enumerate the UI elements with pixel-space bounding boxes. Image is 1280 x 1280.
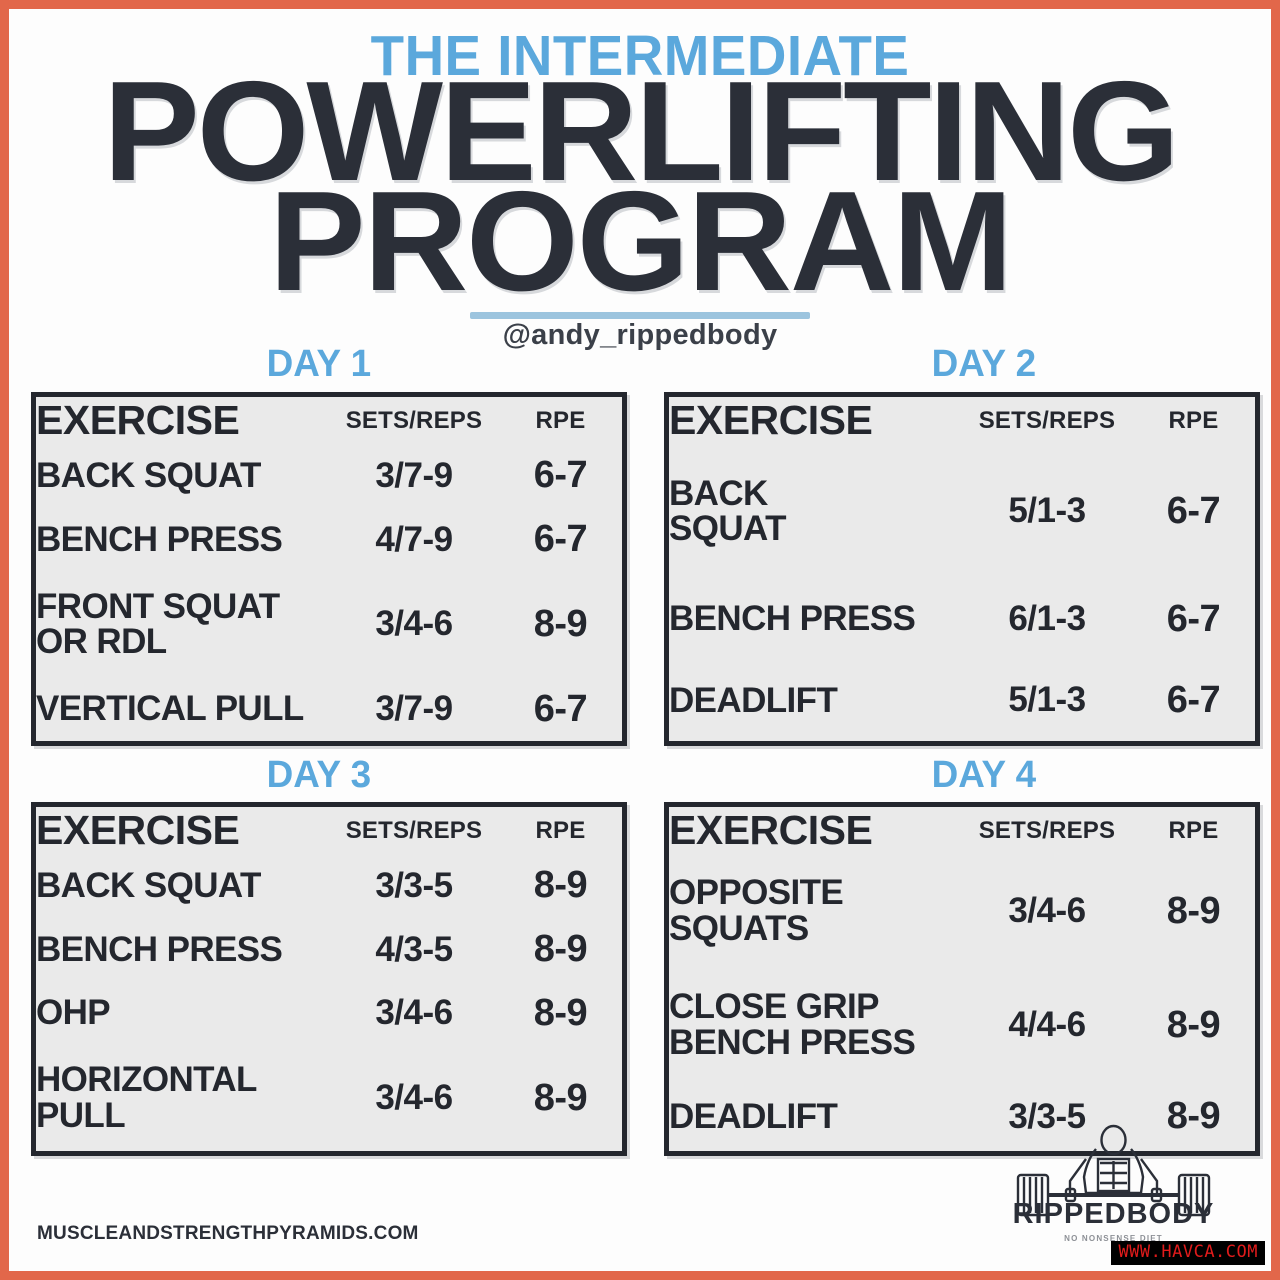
cell-sets-reps: 3/4-6 [329,981,499,1045]
day-1-table-head: EXERCISE SETS/REPS RPE [36,397,622,444]
table-row: FRONT SQUATOR RDL 3/4-6 8-9 [36,571,622,677]
title-underline-rule [470,312,810,319]
table-header-row: EXERCISE SETS/REPS RPE [669,807,1255,854]
day-2-table: EXERCISE SETS/REPS RPE BACKSQUAT 5/1-3 6… [669,397,1255,741]
cell-sets-reps: 5/1-3 [962,660,1132,741]
cell-exercise: BENCH PRESS [36,508,329,572]
cell-sets-reps: 5/1-3 [962,444,1132,579]
site-url[interactable]: MUSCLEANDSTRENGTHPYRAMIDS.COM [37,1223,419,1245]
cell-sets-reps: 3/4-6 [329,571,499,677]
day-3-table-body: BACK SQUAT 3/3-5 8-9 BENCH PRESS 4/3-5 8… [36,854,622,1151]
cell-exercise: FRONT SQUATOR RDL [36,571,329,677]
watermark-havca: WWW.HAVCA.COM [1111,1241,1265,1265]
cell-rpe: 8-9 [499,1045,622,1151]
cell-rpe: 6-7 [499,508,622,572]
header-exercise: EXERCISE [36,807,329,854]
header-sets-reps: SETS/REPS [329,397,499,444]
day-2-table-body: BACKSQUAT 5/1-3 6-7 BENCH PRESS 6/1-3 6-… [669,444,1255,741]
day-label-3: DAY 3 [267,754,372,797]
day-4-table-head: EXERCISE SETS/REPS RPE [669,807,1255,854]
day-3-table-card: EXERCISE SETS/REPS RPE BACK SQUAT 3/3-5 … [31,802,627,1156]
cell-exercise: BACKSQUAT [669,444,962,579]
cell-rpe: 6-7 [1132,444,1255,579]
day-2-table-head: EXERCISE SETS/REPS RPE [669,397,1255,444]
cell-exercise: CLOSE GRIPBENCH PRESS [669,968,962,1082]
header-sets-reps: SETS/REPS [962,397,1132,444]
cell-exercise: HORIZONTALPULL [36,1045,329,1151]
table-row: BACKSQUAT 5/1-3 6-7 [669,444,1255,579]
cell-exercise: DEADLIFT [669,660,962,741]
rippedbody-logo: RIPPEDBODY NO NONSENSE DIET [996,1123,1231,1251]
cell-exercise: DEADLIFT [669,1082,962,1151]
cell-sets-reps: 3/4-6 [962,854,1132,968]
table-row: DEADLIFT 5/1-3 6-7 [669,660,1255,741]
day-3-table: EXERCISE SETS/REPS RPE BACK SQUAT 3/3-5 … [36,807,622,1151]
table-header-row: EXERCISE SETS/REPS RPE [669,397,1255,444]
header-rpe: RPE [499,807,622,854]
poster-canvas: THE INTERMEDIATE POWERLIFTING PROGRAM @a… [9,9,1271,1271]
table-header-row: EXERCISE SETS/REPS RPE [36,807,622,854]
cell-exercise: BACK SQUAT [36,444,329,508]
day-4-table-card: EXERCISE SETS/REPS RPE OPPOSITESQUATS 3/… [664,802,1260,1156]
cell-rpe: 8-9 [499,854,622,918]
header-rpe: RPE [499,397,622,444]
cell-sets-reps: 6/1-3 [962,579,1132,660]
day-4-table-body: OPPOSITESQUATS 3/4-6 8-9 CLOSE GRIPBENCH… [669,854,1255,1151]
day-label-2: DAY 2 [932,343,1037,386]
table-row: BACK SQUAT 3/7-9 6-7 [36,444,622,508]
cell-exercise: VERTICAL PULL [36,677,329,741]
cell-exercise: BACK SQUAT [36,854,329,918]
cell-sets-reps: 3/7-9 [329,444,499,508]
header-exercise: EXERCISE [669,807,962,854]
day-1-table-card: EXERCISE SETS/REPS RPE BACK SQUAT 3/7-9 … [31,392,627,746]
cell-rpe: 8-9 [499,918,622,982]
table-row: BENCH PRESS 6/1-3 6-7 [669,579,1255,660]
cell-sets-reps: 4/4-6 [962,968,1132,1082]
cell-rpe: 6-7 [499,444,622,508]
table-row: BENCH PRESS 4/3-5 8-9 [36,918,622,982]
cell-exercise: OPPOSITESQUATS [669,854,962,968]
header-exercise: EXERCISE [669,397,962,444]
logo-wordmark: RIPPEDBODY [996,1198,1231,1231]
header-sets-reps: SETS/REPS [962,807,1132,854]
day-1-table-body: BACK SQUAT 3/7-9 6-7 BENCH PRESS 4/7-9 6… [36,444,622,741]
title-line-2: PROGRAM [0,177,1280,308]
header-rpe: RPE [1132,807,1255,854]
day-label-1: DAY 1 [267,343,372,386]
cell-rpe: 8-9 [1132,854,1255,968]
cell-sets-reps: 4/3-5 [329,918,499,982]
author-handle: @andy_rippedbody [9,319,1271,352]
day-label-4: DAY 4 [932,754,1037,797]
table-header-row: EXERCISE SETS/REPS RPE [36,397,622,444]
header-rpe: RPE [1132,397,1255,444]
table-row: BENCH PRESS 4/7-9 6-7 [36,508,622,572]
cell-sets-reps: 3/3-5 [329,854,499,918]
day-3-table-head: EXERCISE SETS/REPS RPE [36,807,622,854]
cell-sets-reps: 3/4-6 [329,1045,499,1151]
cell-rpe: 6-7 [1132,579,1255,660]
cell-rpe: 6-7 [499,677,622,741]
day-1-table: EXERCISE SETS/REPS RPE BACK SQUAT 3/7-9 … [36,397,622,741]
day-2-table-card: EXERCISE SETS/REPS RPE BACKSQUAT 5/1-3 6… [664,392,1260,746]
table-row: BACK SQUAT 3/3-5 8-9 [36,854,622,918]
cell-rpe: 6-7 [1132,660,1255,741]
table-row: HORIZONTALPULL 3/4-6 8-9 [36,1045,622,1151]
table-row: CLOSE GRIPBENCH PRESS 4/4-6 8-9 [669,968,1255,1082]
day-4-table: EXERCISE SETS/REPS RPE OPPOSITESQUATS 3/… [669,807,1255,1151]
cell-rpe: 8-9 [499,981,622,1045]
table-row: OPPOSITESQUATS 3/4-6 8-9 [669,854,1255,968]
poster-root: THE INTERMEDIATE POWERLIFTING PROGRAM @a… [0,0,1280,1280]
cell-rpe: 8-9 [499,571,622,677]
cell-exercise: BENCH PRESS [36,918,329,982]
cell-sets-reps: 3/7-9 [329,677,499,741]
cell-sets-reps: 4/7-9 [329,508,499,572]
cell-rpe: 8-9 [1132,968,1255,1082]
table-row: OHP 3/4-6 8-9 [36,981,622,1045]
cell-exercise: OHP [36,981,329,1045]
header-sets-reps: SETS/REPS [329,807,499,854]
cell-exercise: BENCH PRESS [669,579,962,660]
table-row: VERTICAL PULL 3/7-9 6-7 [36,677,622,741]
header-exercise: EXERCISE [36,397,329,444]
